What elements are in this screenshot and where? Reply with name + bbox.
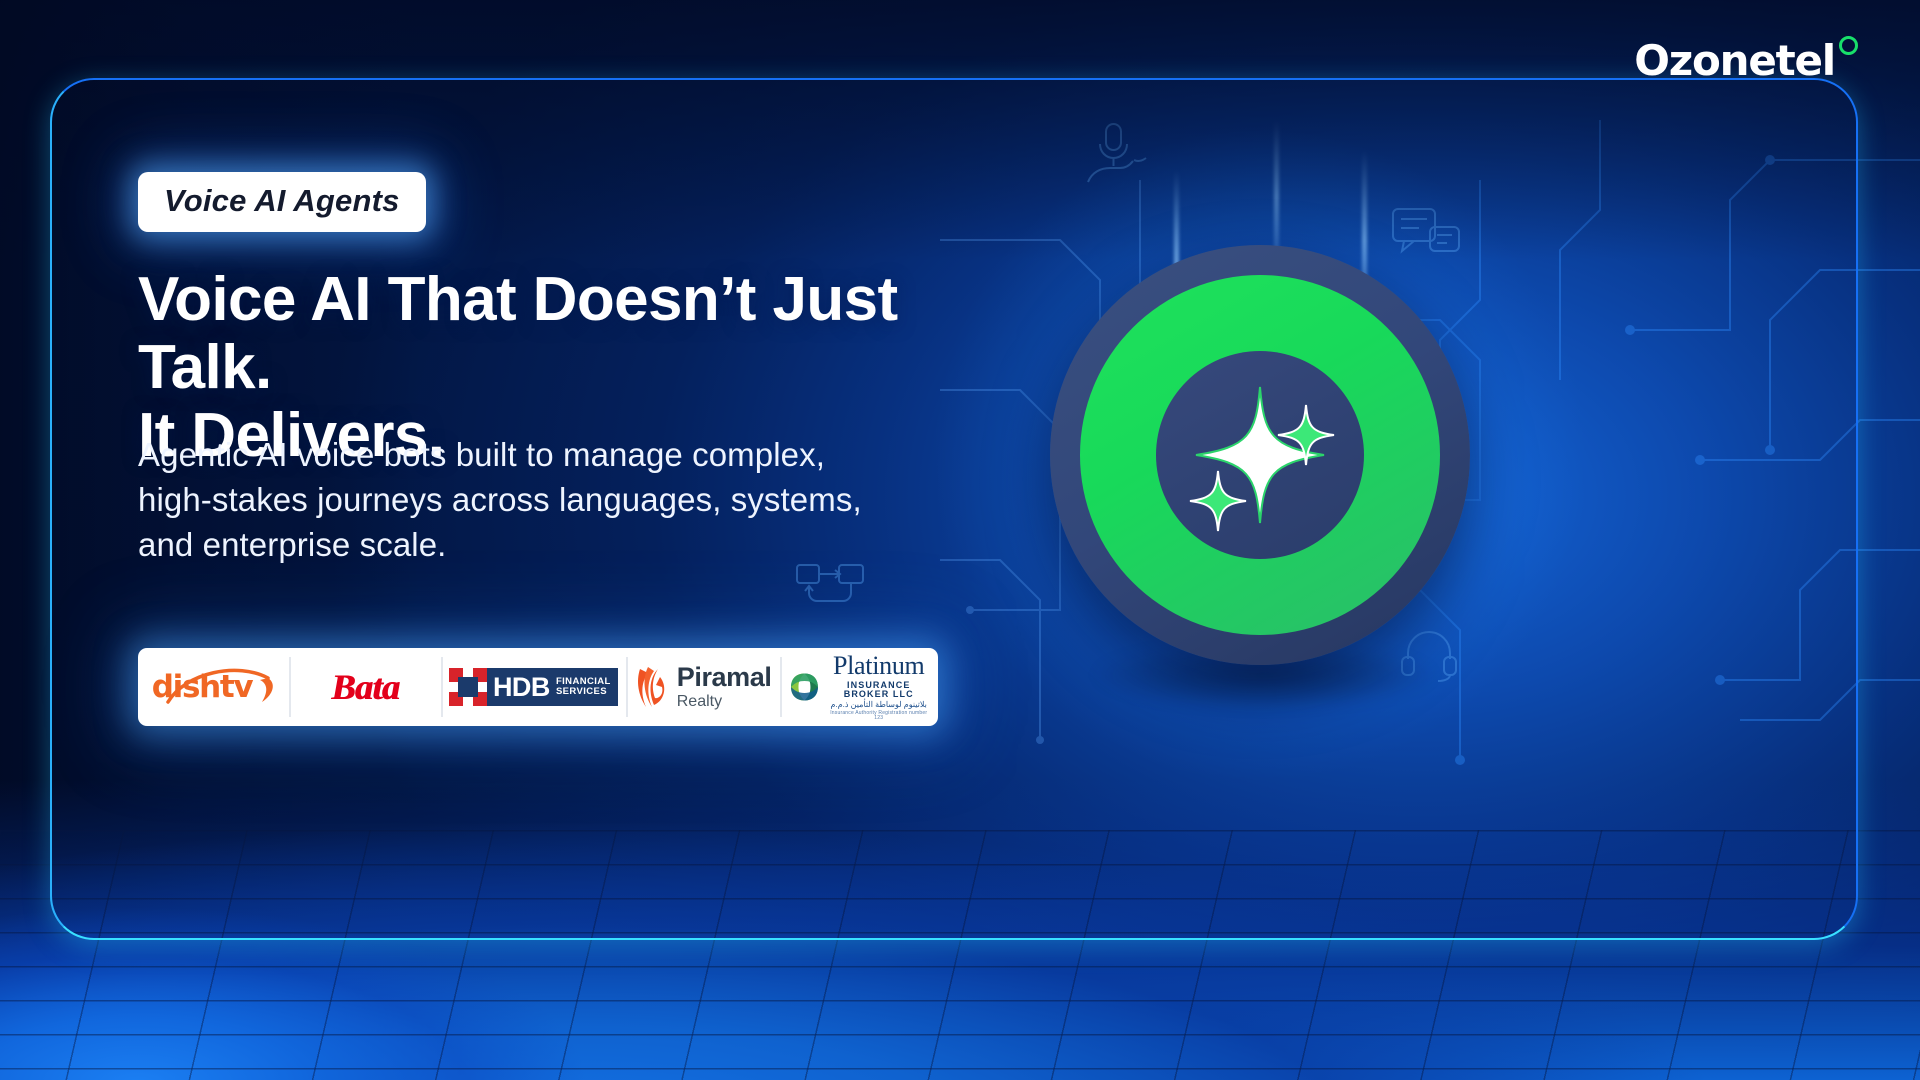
subtitle-line-2: high-stakes journeys across languages, s… (138, 477, 908, 522)
platinum-wordmark: Platinum (827, 653, 930, 679)
logo-dishtv[interactable]: dishtv (138, 648, 289, 726)
hero-subtitle: Agentic AI voice bots built to manage co… (138, 432, 908, 567)
hdb-sub-line-2: SERVICES (556, 687, 611, 697)
logo-piramal-realty[interactable]: Piramal Realty (626, 648, 780, 726)
hdb-logo: HDB FINANCIAL SERVICES (449, 668, 618, 706)
platinum-fineprint: Insurance Authority Registration number … (827, 711, 930, 721)
client-logo-strip: dishtv Bata HDB FINANCIAL SERVICES (138, 648, 938, 726)
ai-emblem (1050, 245, 1470, 665)
perspective-grid (0, 830, 1920, 1080)
green-ring-icon (1839, 36, 1858, 55)
banner-stage: Ozonetel Voice AI Agents Voice AI That D… (0, 0, 1920, 1080)
headline-line-1: Voice AI That Doesn’t Just Talk. (138, 266, 958, 402)
hdb-wordmark: HDB (493, 674, 550, 701)
hdb-square-icon (449, 668, 487, 706)
piramal-flame-icon (634, 665, 668, 709)
eyebrow-badge: Voice AI Agents (138, 172, 426, 232)
logo-hdb-financial-services[interactable]: HDB FINANCIAL SERVICES (441, 648, 626, 726)
ozonetel-logo[interactable]: Ozonetel (1634, 40, 1858, 82)
logo-platinum-insurance-broker[interactable]: Platinum INSURANCE BROKER LLC بلاتينوم ل… (780, 648, 939, 726)
brand-name: Ozonetel (1634, 40, 1835, 82)
bata-wordmark: Bata (331, 666, 399, 708)
platinum-arabic: بلاتينوم لوساطة التأمين ذ.م.م (827, 701, 930, 709)
piramal-sub: Realty (677, 694, 772, 710)
platinum-logo: Platinum INSURANCE BROKER LLC بلاتينوم ل… (788, 653, 931, 721)
logo-bata[interactable]: Bata (289, 648, 440, 726)
subtitle-line-3: and enterprise scale. (138, 522, 908, 567)
piramal-logo: Piramal Realty (634, 664, 772, 710)
platinum-sub: INSURANCE BROKER LLC (827, 681, 930, 699)
piramal-wordmark: Piramal (677, 664, 772, 691)
dishtv-wordmark: dishtv (152, 669, 253, 705)
platinum-loops-icon (788, 665, 821, 709)
dishtv-logo-icon: dishtv (148, 664, 280, 710)
subtitle-line-1: Agentic AI voice bots built to manage co… (138, 432, 908, 477)
ai-sparkle-icon (1156, 351, 1364, 559)
